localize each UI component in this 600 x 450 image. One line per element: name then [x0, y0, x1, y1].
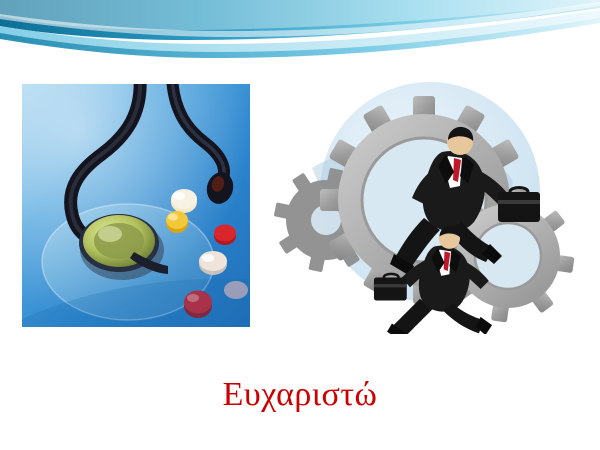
- gears-businessmen-clipart: [272, 72, 584, 334]
- page-title: Ευχαριστώ: [0, 375, 600, 415]
- decorative-wave-banner: [0, 0, 600, 62]
- stethoscope-pills-photo: [22, 84, 250, 327]
- slide: Ευχαριστώ: [0, 0, 600, 450]
